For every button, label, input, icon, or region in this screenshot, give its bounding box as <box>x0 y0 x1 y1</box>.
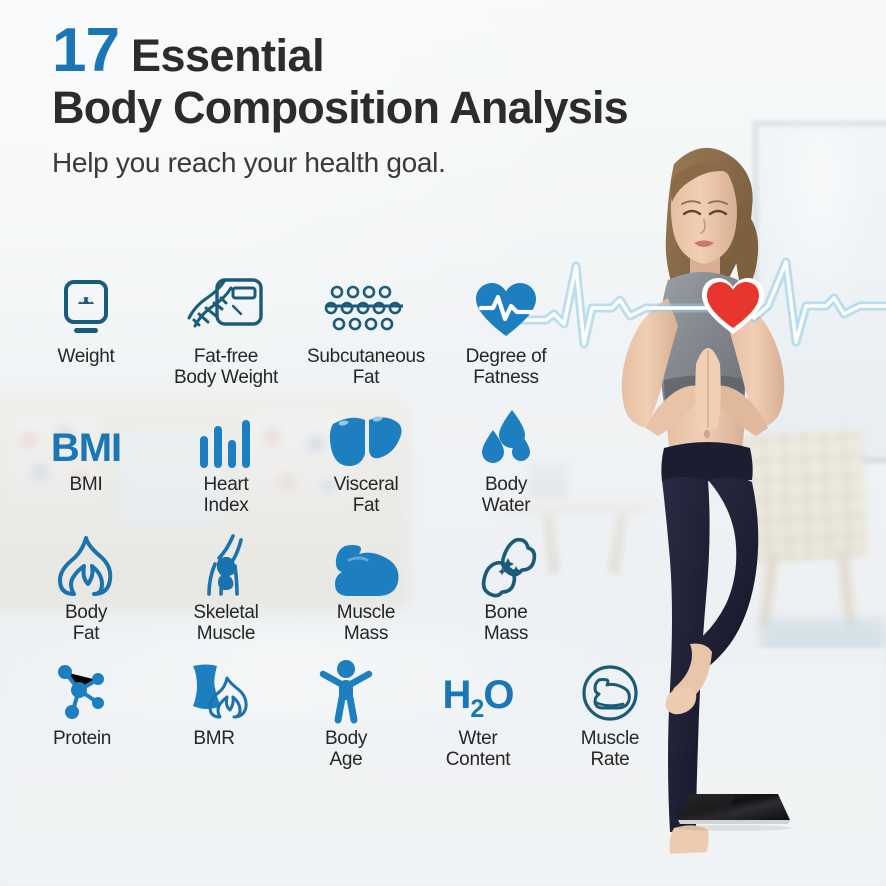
metric-heart-index[interactable]: Heart Index <box>158 400 294 516</box>
metric-label: Heart Index <box>204 475 249 516</box>
heart-pulse-icon <box>473 272 539 340</box>
heart-badge <box>700 276 766 338</box>
metric-label: Protein <box>53 729 111 750</box>
metric-label: Weight <box>58 347 115 368</box>
metric-label: BMR <box>193 729 234 750</box>
molecule-icon <box>53 654 111 722</box>
weight-scale-icon <box>56 272 116 340</box>
metric-label: Body Water <box>482 475 530 516</box>
flexed-bicep-icon <box>333 528 399 596</box>
headline-subtitle: Help you reach your health goal. <box>52 147 692 179</box>
metric-muscle-mass[interactable]: Muscle Mass <box>298 528 434 644</box>
metric-body-water[interactable]: Body Water <box>438 400 574 516</box>
bmi-glyph: BMI <box>51 428 121 468</box>
metric-bmi[interactable]: BMI BMI <box>18 400 154 516</box>
bone-icon <box>474 528 538 596</box>
headline-line-2: Body Composition Analysis <box>52 83 692 133</box>
headline-line-1: 17 Essential <box>52 22 692 81</box>
metric-protein[interactable]: Protein <box>18 654 146 770</box>
metric-weight[interactable]: Weight <box>18 272 154 388</box>
smart-body-scale <box>672 786 796 830</box>
person-arms-up-icon <box>319 654 373 722</box>
metric-label: Muscle Mass <box>337 603 395 644</box>
metric-degree-of-fatness[interactable]: Degree of Fatness <box>438 272 574 388</box>
metric-body-fat[interactable]: Body Fat <box>18 528 154 644</box>
metric-label: Muscle Rate <box>581 729 639 770</box>
bicep-circle-icon <box>581 654 639 722</box>
metrics-grid: Weight Fat-free Body Weight <box>18 272 678 770</box>
metric-label: Body Fat <box>65 603 107 644</box>
metrics-row: Weight Fat-free Body Weight <box>18 272 678 388</box>
metric-bone-mass[interactable]: Bone Mass <box>438 528 574 644</box>
metric-label: Wter Content <box>446 729 510 770</box>
metric-label: Bone Mass <box>484 603 528 644</box>
metric-bmr[interactable]: BMR <box>150 654 278 770</box>
metric-label: Subcutaneous Fat <box>307 347 425 388</box>
dna-scale-icon <box>187 272 265 340</box>
headline-block: 17 Essential Body Composition Analysis H… <box>52 22 692 179</box>
flame-icon <box>58 528 114 596</box>
infographic-poster: Weight Fat-free Body Weight <box>0 0 886 886</box>
bmi-text-icon: BMI <box>51 400 121 468</box>
metric-visceral-fat[interactable]: Visceral Fat <box>298 400 434 516</box>
metric-fat-free-body-weight[interactable]: Fat-free Body Weight <box>158 272 294 388</box>
h2o-text-icon: H2O <box>443 654 514 722</box>
torso-flame-icon <box>183 654 245 722</box>
metric-body-age[interactable]: Body Age <box>282 654 410 770</box>
metric-label: Visceral Fat <box>334 475 399 516</box>
metric-label: Degree of Fatness <box>466 347 547 388</box>
h2o-glyph: H2O <box>443 675 514 722</box>
metrics-row: BMI BMI Heart Index <box>18 400 678 516</box>
metric-water-content[interactable]: H2O Wter Content <box>414 654 542 770</box>
headline-number: 17 <box>52 22 119 81</box>
metric-subcutaneous-fat[interactable]: Subcutaneous Fat <box>298 272 434 388</box>
metric-label: Skeletal Muscle <box>193 603 258 644</box>
metric-muscle-rate[interactable]: Muscle Rate <box>546 654 674 770</box>
metrics-row: Body Fat S <box>18 528 678 644</box>
fat-cells-dots-icon <box>327 272 405 340</box>
water-drops-icon <box>476 400 536 468</box>
metric-label: Fat-free Body Weight <box>174 347 278 388</box>
liver-icon <box>329 400 403 468</box>
knee-joint-icon <box>199 528 253 596</box>
metric-skeletal-muscle[interactable]: Skeletal Muscle <box>158 528 294 644</box>
headline-emphasis: Essential <box>131 33 324 78</box>
bar-chart-icon <box>198 400 254 468</box>
metrics-row: Protein BMR <box>18 654 678 770</box>
metric-label: BMI <box>70 475 103 496</box>
metric-label: Body Age <box>325 729 367 770</box>
